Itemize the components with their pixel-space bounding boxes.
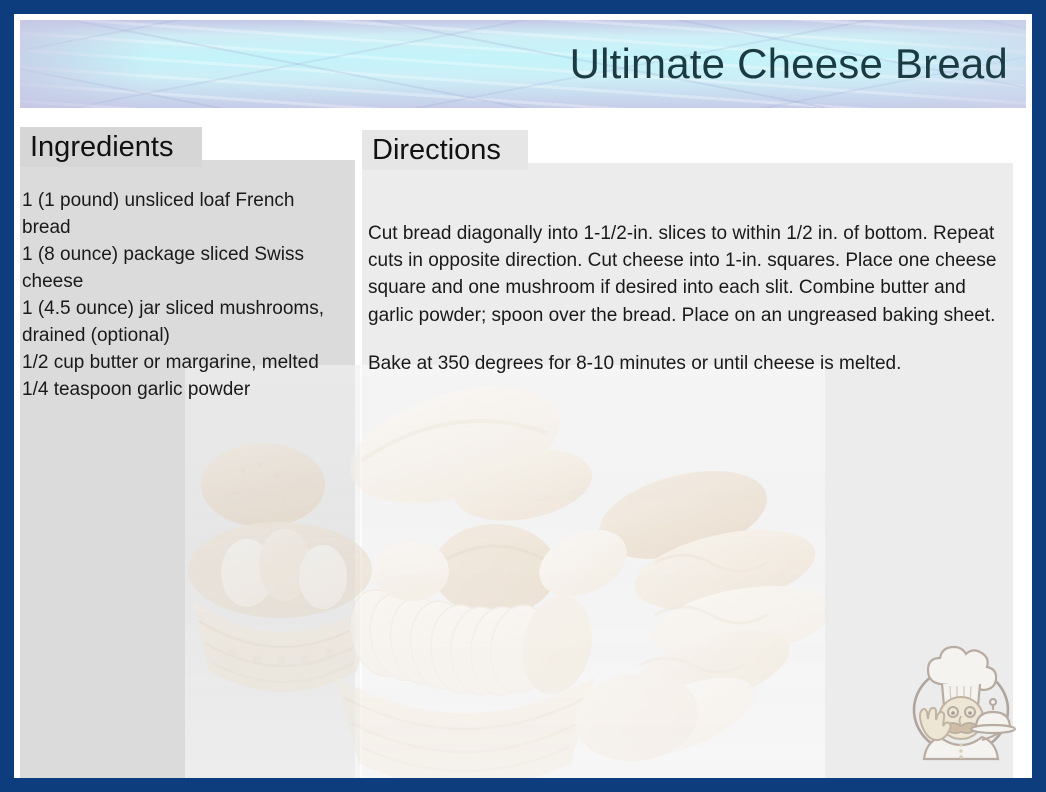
directions-tab: Directions <box>362 130 528 170</box>
directions-tab-label: Directions <box>362 136 501 165</box>
directions-body: Cut bread diagonally into 1-1/2-in. slic… <box>368 193 1010 404</box>
ingredients-tab-label: Ingredients <box>20 133 174 162</box>
chef-mascot-logo <box>900 640 1022 762</box>
directions-paragraph-1: Cut bread diagonally into 1-1/2-in. slic… <box>368 223 996 325</box>
card-border-bottom <box>0 778 1046 792</box>
recipe-title: Ultimate Cheese Bread <box>570 42 1008 86</box>
ingredients-tab: Ingredients <box>20 127 202 167</box>
card-border-right <box>1032 0 1046 792</box>
header-banner: Ultimate Cheese Bread <box>20 20 1026 108</box>
ingredients-list: 1 (1 pound) unsliced loaf French bread 1… <box>22 188 342 404</box>
banner-fade-left <box>20 20 150 108</box>
directions-paragraph-2: Bake at 350 degrees for 8-10 minutes or … <box>368 350 1010 377</box>
card-border-top <box>0 0 1046 14</box>
recipe-card: Ultimate Cheese Bread Ingredients Direct… <box>0 0 1046 792</box>
card-border-left <box>0 0 14 792</box>
